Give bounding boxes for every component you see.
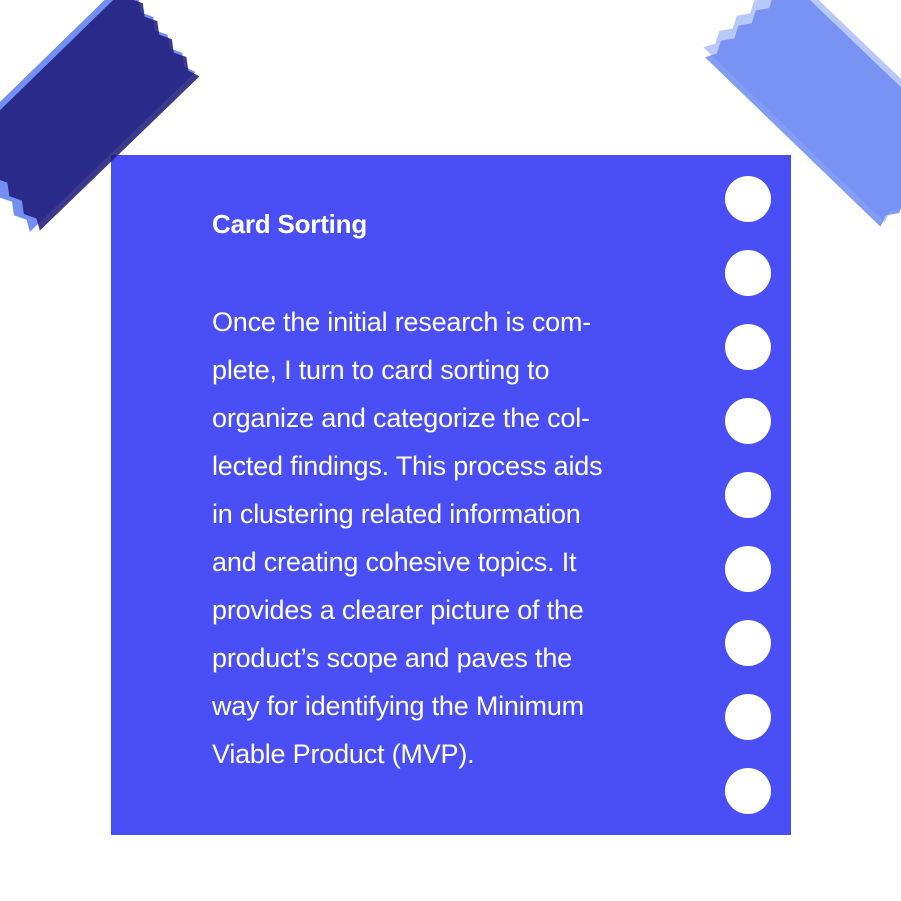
page-title: Card Sorting (212, 206, 702, 242)
canvas: Card Sorting Once the initial research i… (0, 0, 901, 901)
card-body-text: Once the initial research is com- plete,… (212, 242, 702, 778)
card-text-block: Card Sorting Once the initial research i… (212, 206, 702, 778)
